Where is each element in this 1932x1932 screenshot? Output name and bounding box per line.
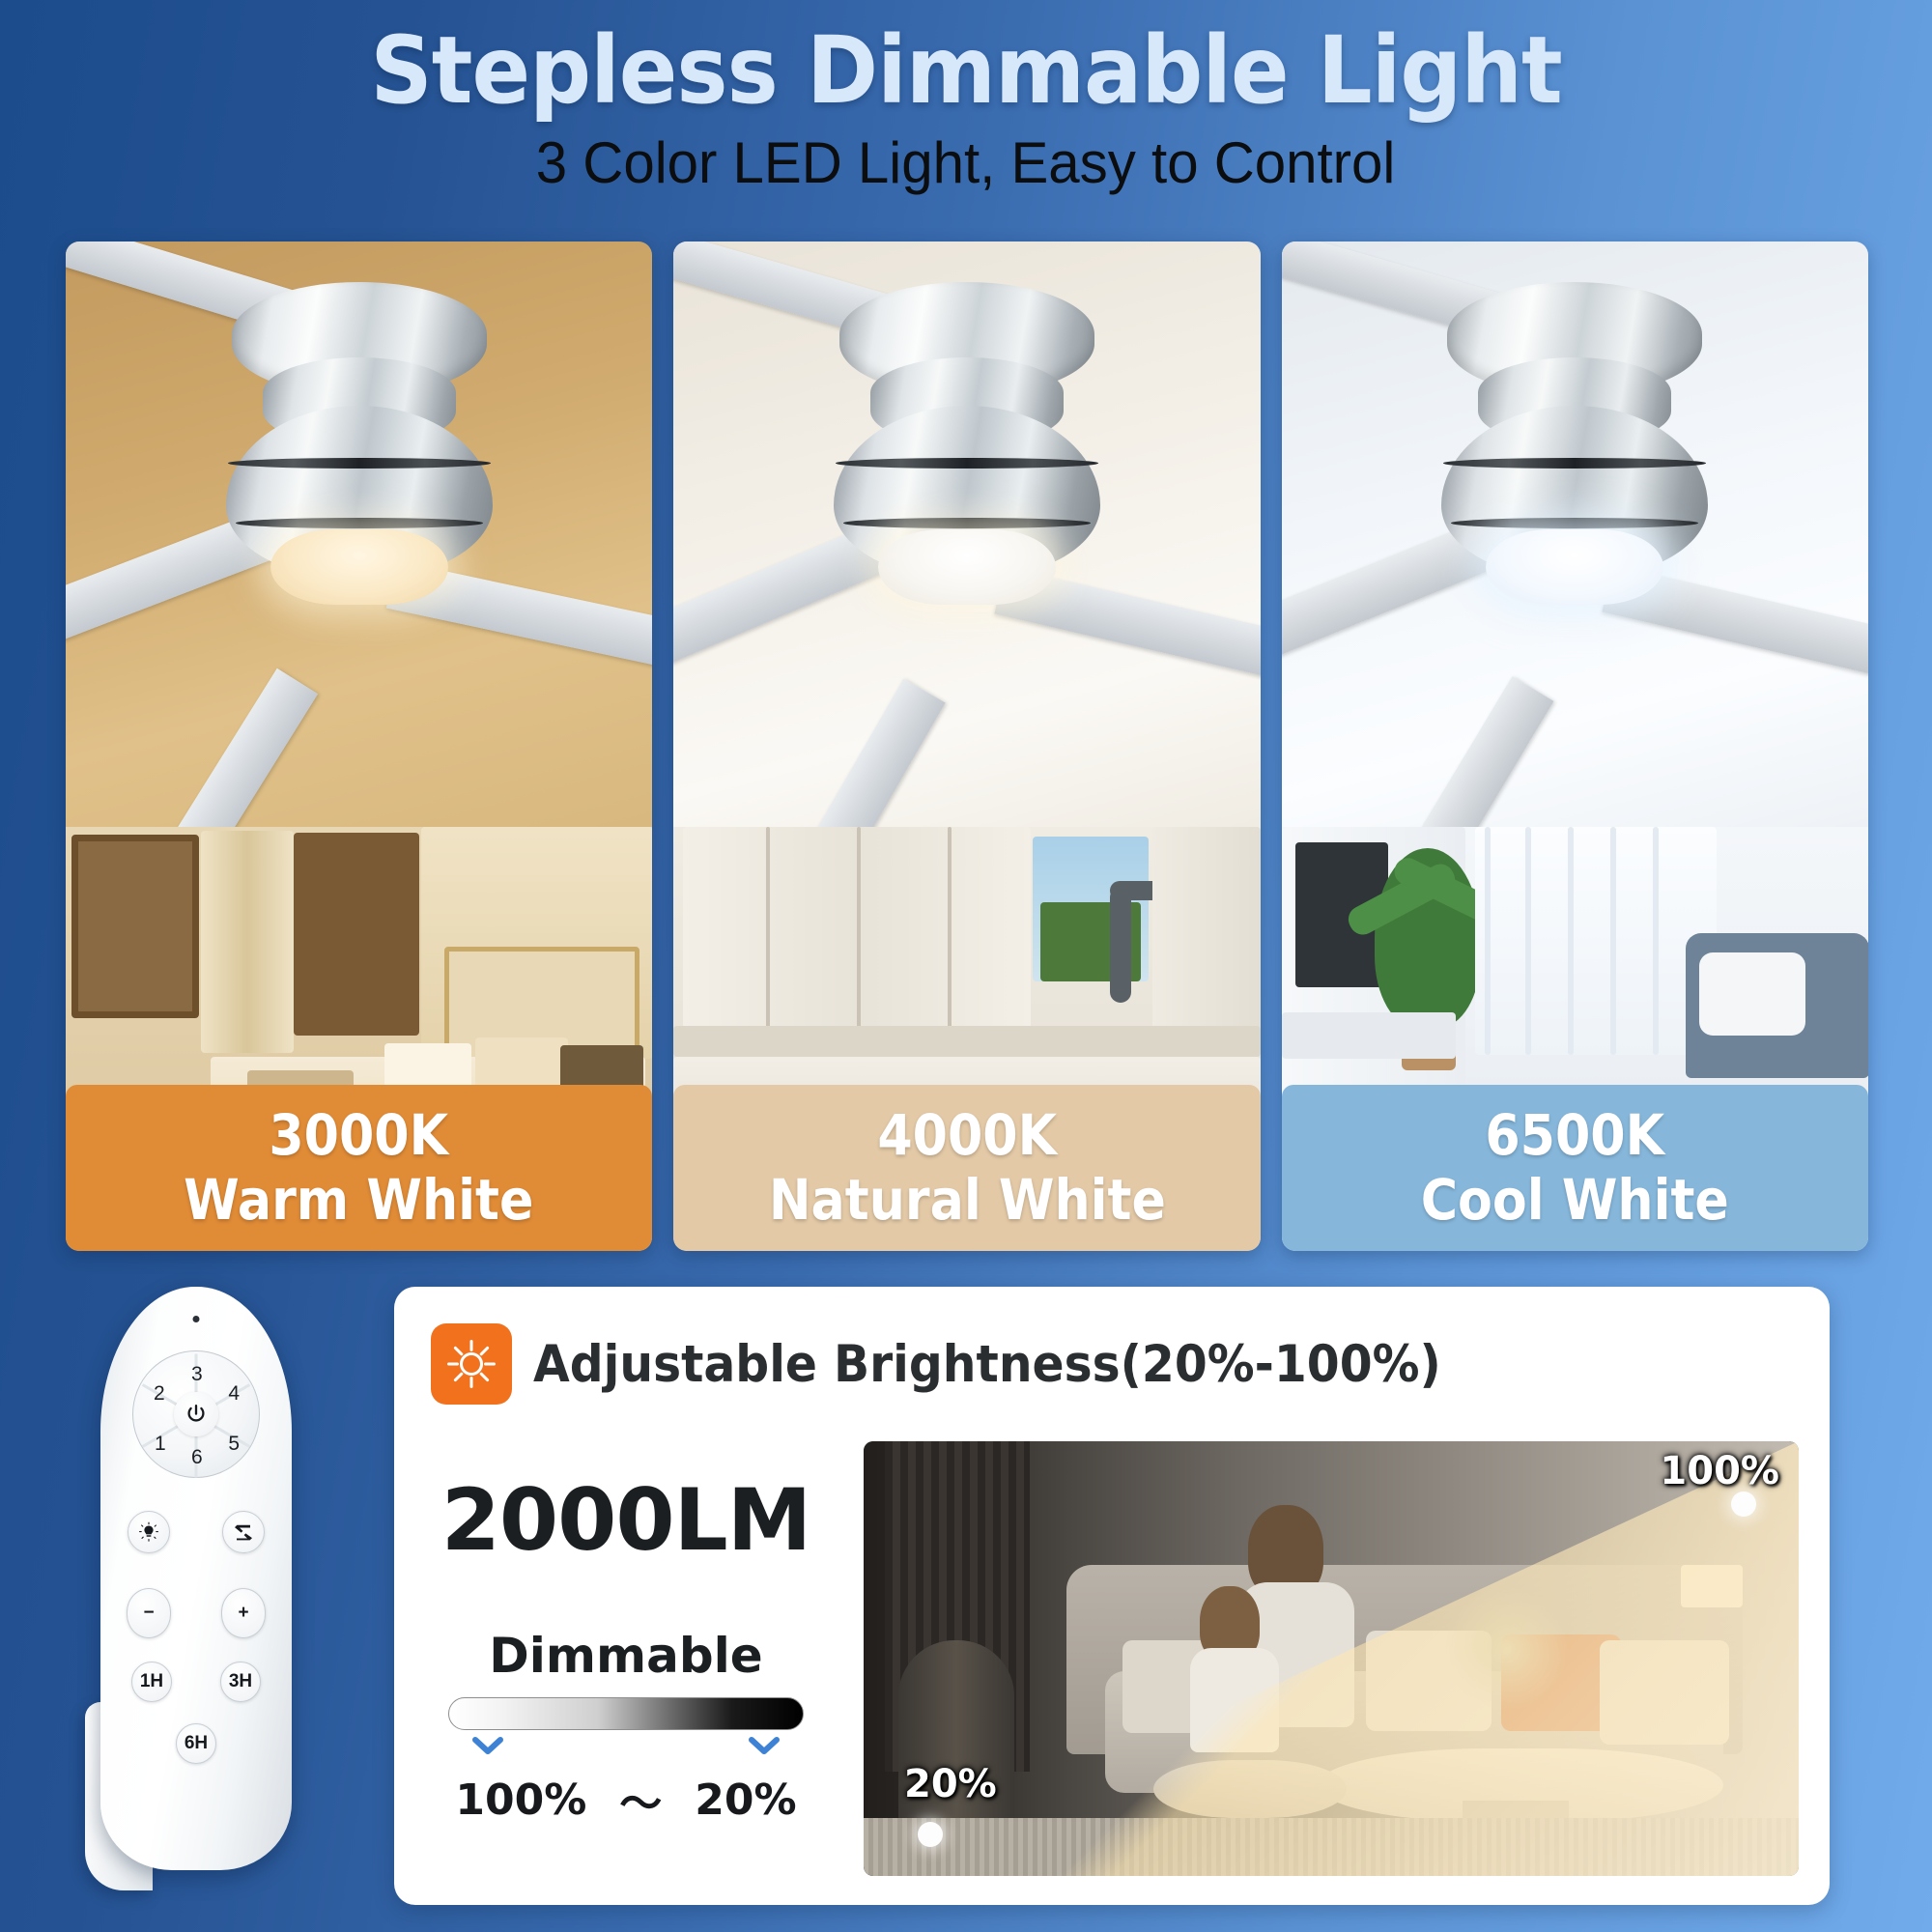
panel-label-natural-white: 4000K Natural White <box>673 1085 1260 1251</box>
panel-label-cool-white: 6500K Cool White <box>1282 1085 1868 1251</box>
demo-low-label: 20% <box>904 1762 997 1806</box>
throw-blanket <box>1699 952 1805 1036</box>
kelvin-value: 6500K <box>1485 1104 1664 1167</box>
speed-button-5[interactable]: 5 <box>228 1433 240 1456</box>
curtain-dark <box>294 833 419 1036</box>
ir-emitter-dot <box>193 1316 200 1322</box>
fan-light-diffuser <box>878 529 1056 605</box>
brightness-info-card: Adjustable Brightness(20%-100%) 2000LM D… <box>394 1287 1830 1905</box>
power-icon <box>185 1403 208 1426</box>
cabinet-right <box>1152 827 1260 1039</box>
card-header: Adjustable Brightness(20%-100%) <box>431 1323 1520 1405</box>
ceiling-fan <box>1430 282 1719 601</box>
sheer-fold <box>1653 827 1659 1055</box>
timer-3h-button[interactable]: 3H <box>220 1662 261 1702</box>
sun-icon <box>444 1337 498 1391</box>
window-sheer <box>1475 827 1717 1055</box>
panel-label-warm-white: 3000K Warm White <box>66 1085 652 1251</box>
reverse-direction-button[interactable] <box>222 1511 265 1553</box>
lumens-value: 2000LM <box>423 1470 829 1570</box>
sheer-fold <box>1610 827 1616 1055</box>
kelvin-value: 3000K <box>270 1104 449 1167</box>
reverse-direction-icon <box>231 1520 256 1545</box>
timer-1h-button[interactable]: 1H <box>131 1662 172 1702</box>
demo-low-dot <box>918 1822 943 1847</box>
speed-button-6[interactable]: 6 <box>191 1446 203 1469</box>
page-title: Stepless Dimmable Light <box>370 21 1561 122</box>
dimming-range-row: 100% ～ 20% <box>423 1769 829 1831</box>
sheer-fold <box>1485 827 1491 1055</box>
sheer-fold <box>1568 827 1574 1055</box>
range-low-value: 20% <box>695 1776 796 1825</box>
color-panel-natural-white: 4000K Natural White <box>673 241 1260 1251</box>
faucet <box>1110 887 1131 1003</box>
brightness-down-button[interactable]: − <box>127 1588 171 1638</box>
tone-name: Natural White <box>768 1169 1165 1232</box>
ceiling-fan <box>822 282 1112 601</box>
fan-accent-ring <box>236 518 483 528</box>
fan-accent-ring <box>1443 458 1706 469</box>
dimming-gradient-bar <box>448 1697 804 1730</box>
chevron-down-icon-right <box>748 1736 781 1757</box>
remote-body: 1 2 3 4 5 6 <box>100 1287 292 1870</box>
cabinet-seam <box>766 827 770 1037</box>
remote-control: 1 2 3 4 5 6 <box>85 1287 307 1905</box>
cabinet-seam <box>948 827 952 1037</box>
fan-accent-ring <box>836 458 1098 469</box>
cabinet-seam <box>857 827 861 1037</box>
color-panel-cool-white: 6500K Cool White <box>1282 241 1868 1251</box>
floor-speaker <box>898 1640 1014 1843</box>
card-title: Adjustable Brightness(20%-100%) <box>533 1335 1441 1394</box>
light-toggle-button[interactable] <box>128 1511 170 1553</box>
kelvin-value: 4000K <box>877 1104 1057 1167</box>
brightness-demo-photo: 100% 20% <box>864 1441 1799 1876</box>
color-temperature-panels: 3000K Warm White <box>66 241 1868 1251</box>
media-console <box>1282 1012 1456 1059</box>
timer-6h-button[interactable]: 6H <box>176 1723 216 1764</box>
demo-high-label: 100% <box>1660 1449 1779 1493</box>
speed-button-2[interactable]: 2 <box>154 1382 165 1406</box>
page-subtitle: 3 Color LED Light, Easy to Control <box>536 129 1396 196</box>
range-high-value: 100% <box>455 1776 586 1825</box>
dimmable-label: Dimmable <box>423 1628 829 1684</box>
light-bulb-icon <box>137 1520 160 1544</box>
chevron-row <box>448 1736 804 1765</box>
chevron-down-icon-left <box>471 1736 504 1757</box>
countertop <box>673 1026 1260 1057</box>
fan-light-diffuser <box>270 529 448 605</box>
sheer-fold <box>1525 827 1531 1055</box>
curtain <box>201 831 294 1053</box>
fan-accent-ring <box>1451 518 1698 528</box>
range-separator: ～ <box>619 1769 662 1831</box>
page-header: Stepless Dimmable Light 3 Color LED Ligh… <box>0 0 1932 227</box>
power-button[interactable] <box>174 1392 218 1436</box>
sun-badge <box>431 1323 512 1405</box>
fan-accent-ring <box>228 458 491 469</box>
speed-button-1[interactable]: 1 <box>155 1433 166 1456</box>
tone-name: Warm White <box>185 1169 534 1232</box>
color-panel-warm-white: 3000K Warm White <box>66 241 652 1251</box>
speed-button-3[interactable]: 3 <box>191 1363 203 1386</box>
tone-name: Cool White <box>1421 1169 1729 1232</box>
ceiling-fan <box>214 282 504 601</box>
fan-light-diffuser <box>1486 529 1663 605</box>
fan-speed-dial[interactable]: 1 2 3 4 5 6 <box>132 1350 260 1478</box>
demo-high-dot <box>1731 1492 1756 1517</box>
speed-button-4[interactable]: 4 <box>228 1382 240 1406</box>
lumens-column: 2000LM Dimmable 100% ～ 20% <box>423 1470 829 1831</box>
window <box>71 835 199 1018</box>
brightness-up-button[interactable]: + <box>221 1588 266 1638</box>
fan-accent-ring <box>843 518 1091 528</box>
